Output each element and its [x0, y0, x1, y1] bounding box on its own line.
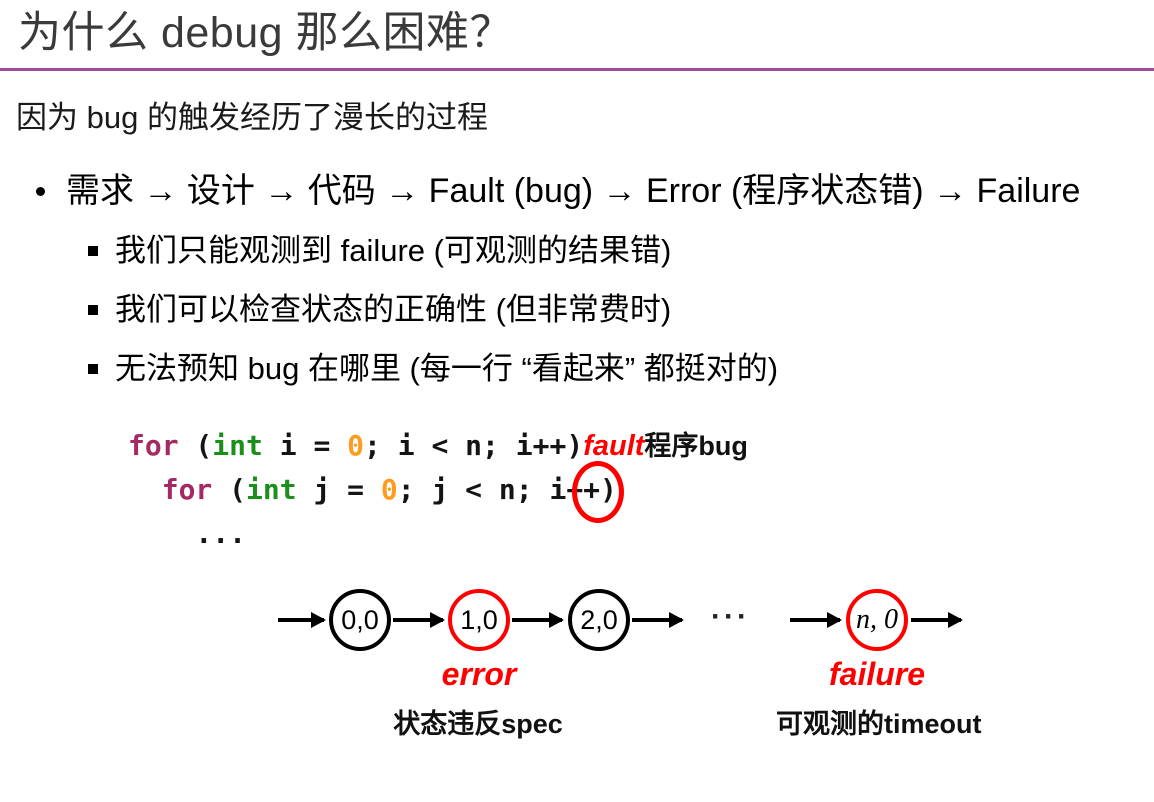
code-indent [128, 473, 162, 506]
label-failure: failure [796, 656, 958, 693]
code-line-3-ellipsis: ... [128, 517, 246, 550]
state-node-0: 0,0 [329, 589, 391, 651]
state-node-label: n, 0 [856, 604, 898, 636]
arrow-into-node-n [790, 618, 840, 622]
annotation-fault: fault [583, 430, 644, 462]
bullet-square-icon [88, 364, 98, 374]
diagram-ellipsis: ··· [711, 600, 750, 634]
keyword-int: int [212, 429, 263, 462]
subtitle-text: 因为 bug 的触发经历了漫长的过程 [16, 98, 488, 138]
keyword-for: for [162, 473, 213, 506]
page-title: 为什么 debug 那么困难？ [18, 3, 513, 63]
state-transition-diagram: 0,0 1,0 2,0 ··· n, 0 error failure 状态违反s… [0, 560, 1154, 760]
arrow-into-node-0 [278, 618, 324, 622]
bullet-level1-label: 需求 → 设计 → 代码 → Fault (bug) → Error (程序状态… [66, 168, 1080, 214]
title-divider [0, 68, 1154, 71]
state-node-1-error: 1,0 [448, 589, 510, 651]
bullet-square-icon [88, 246, 98, 256]
state-node-label: 2,0 [580, 605, 618, 636]
state-node-label: 1,0 [460, 605, 498, 636]
label-error: error [398, 656, 560, 693]
state-node-2: 2,0 [568, 589, 630, 651]
bullet-level2-label: 无法预知 bug 在哪里 (每一行 “看起来” 都挺对的) [115, 347, 778, 391]
code-snippet: for (int i = 0; i < n; i++)fault程序bug fo… [128, 424, 748, 556]
annotation-fault-chinese: 程序bug [644, 431, 747, 461]
bullet-level2-label: 我们可以检查状态的正确性 (但非常费时) [115, 288, 671, 332]
bullet-dot-icon [36, 187, 45, 196]
literal-zero: 0 [347, 429, 364, 462]
bullet-level2-observe-failure: 我们只能观测到 failure (可观测的结果错) [88, 229, 671, 273]
code-line-1: for (int i = 0; i < n; i++)fault程序bug [128, 429, 748, 462]
bullet-level1-pipeline: 需求 → 设计 → 代码 → Fault (bug) → Error (程序状态… [36, 168, 1080, 214]
arrow-out-of-node-n [911, 618, 961, 622]
caption-failure: 可观测的timeout [776, 702, 976, 741]
bullet-level2-check-state: 我们可以检查状态的正确性 (但非常费时) [88, 288, 671, 332]
code-text: j = [297, 473, 381, 506]
keyword-for: for [128, 429, 179, 462]
arrow-out-of-node-2 [632, 618, 682, 622]
code-text: i = [263, 429, 347, 462]
code-text: ( [179, 429, 213, 462]
arrow-node0-to-node1 [393, 618, 443, 622]
code-line-2: for (int j = 0; j < n; i++) [128, 473, 617, 506]
bullet-level2-unknown-bug: 无法预知 bug 在哪里 (每一行 “看起来” 都挺对的) [88, 347, 778, 391]
code-text: ; i < n; i++) [364, 429, 583, 462]
bullet-level2-label: 我们只能观测到 failure (可观测的结果错) [115, 229, 671, 273]
bullet-square-icon [88, 305, 98, 315]
state-node-n-failure: n, 0 [846, 589, 908, 651]
arrow-node1-to-node2 [512, 618, 562, 622]
code-text: ( [212, 473, 246, 506]
state-node-label: 0,0 [341, 605, 379, 636]
bug-highlight-ellipse [572, 461, 624, 523]
caption-error: 状态违反spec [378, 702, 578, 741]
literal-zero: 0 [381, 473, 398, 506]
keyword-int: int [246, 473, 297, 506]
